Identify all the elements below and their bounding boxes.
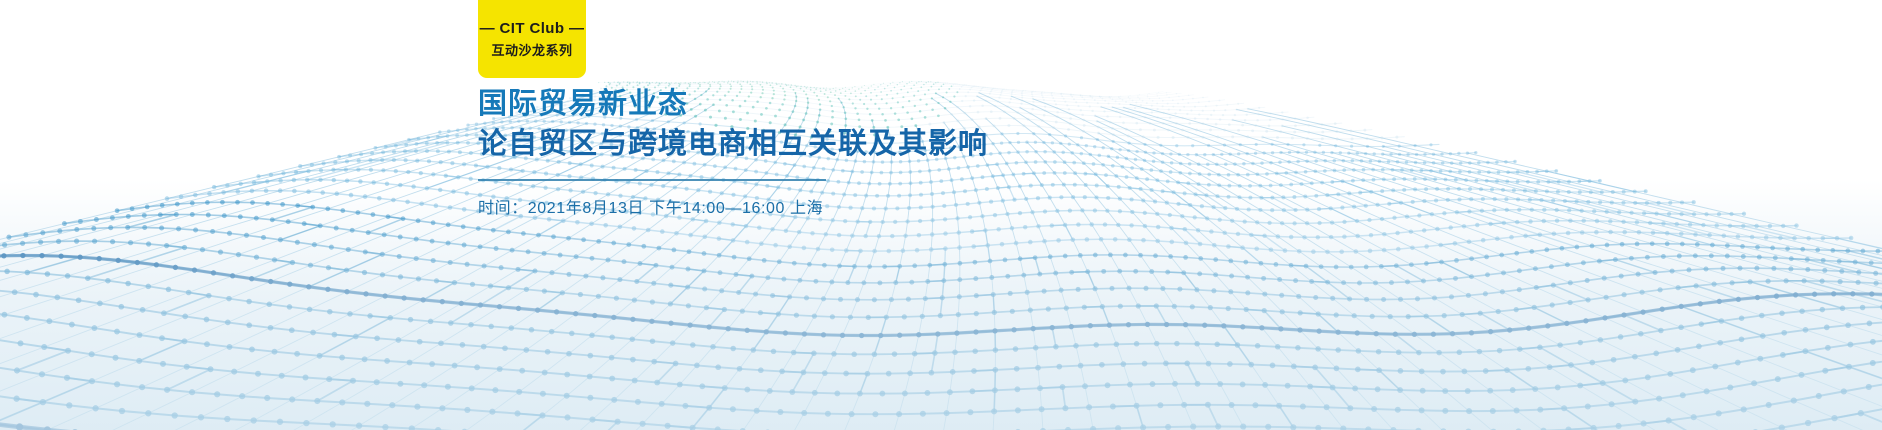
headline-divider [478,179,826,181]
badge-label-cn: 互动沙龙系列 [491,40,572,59]
cit-club-badge: — CIT Club — 互动沙龙系列 [478,0,586,78]
headline-block: 国际贸易新业态 论自贸区与跨境电商相互关联及其影响 时间：2021年8月13日 … [478,86,988,218]
event-meta-line: 时间：2021年8月13日 下午14:00—16:00 上海 [478,194,988,218]
event-banner: — CIT Club — 互动沙龙系列 国际贸易新业态 论自贸区与跨境电商相互关… [0,0,1882,430]
headline-line-1: 国际贸易新业态 [478,86,988,124]
badge-label-en: — CIT Club — [480,20,585,37]
headline-line-2: 论自贸区与跨境电商相互关联及其影响 [478,126,988,164]
